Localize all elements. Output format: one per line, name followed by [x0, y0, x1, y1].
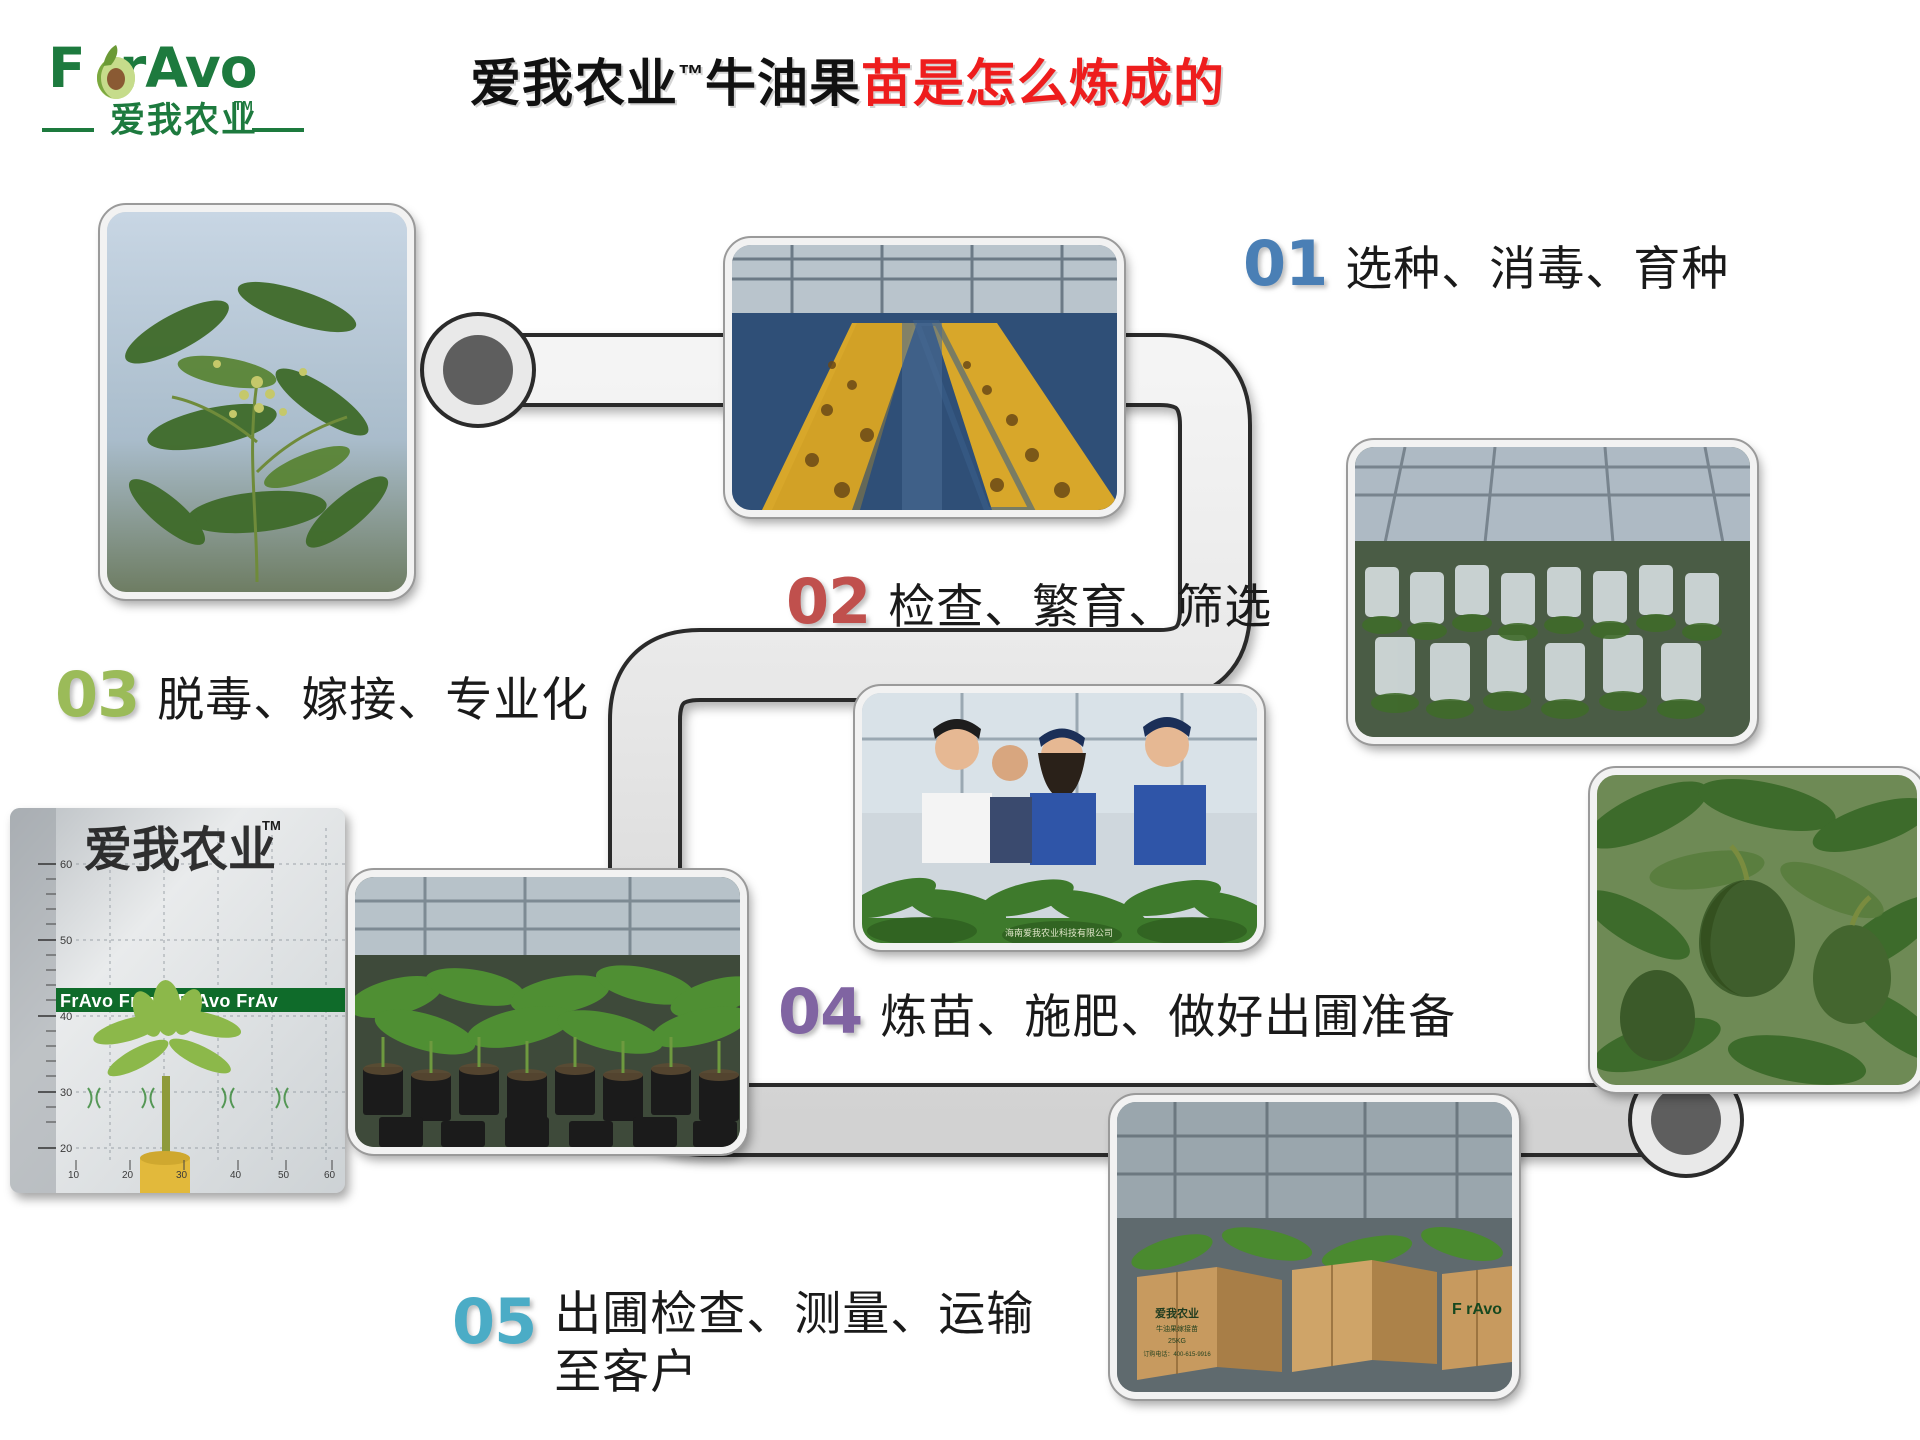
- svg-text:40: 40: [60, 1011, 72, 1023]
- brand-tm-mark: TM: [234, 98, 253, 113]
- svg-text:10: 10: [68, 1170, 80, 1181]
- photo-cartons: 爱我农业 牛油果嫁接苗 25KG 订购电话：400-615-9916 F rAv…: [1110, 1095, 1519, 1399]
- photo-potted-rows: [348, 870, 747, 1154]
- title-part-product: 牛油果: [705, 55, 861, 112]
- brand-wordmark: ForAvo: [48, 38, 257, 98]
- photo-ruler-seedling: 605040 3020 爱我农业 TM FrAvo FrAvo FrAvo Fr…: [10, 808, 345, 1193]
- cartons-of-seedlings-image: 爱我农业 牛油果嫁接苗 25KG 订购电话：400-615-9916 F rAv…: [1117, 1102, 1512, 1392]
- step-label-02: 02检查、繁育、筛选: [786, 565, 1272, 638]
- step-label-04: 04炼苗、施肥、做好出圃准备: [778, 975, 1456, 1048]
- step-number-03: 03: [55, 658, 139, 731]
- svg-text:60: 60: [60, 859, 72, 871]
- grafted-seedlings-in-bags-image: [1355, 447, 1750, 737]
- photo-grafting-bags: [1348, 440, 1757, 744]
- svg-text:30: 30: [176, 1170, 188, 1181]
- carton-label-product: 牛油果嫁接苗: [1156, 1324, 1198, 1333]
- potted-seedling-rows-image: [355, 877, 740, 1147]
- svg-text:20: 20: [122, 1170, 134, 1181]
- brand-logo: ForAvo 爱我农业 TM: [48, 38, 318, 148]
- svg-text:20: 20: [60, 1143, 72, 1155]
- seed-germination-trays-image: [732, 245, 1117, 510]
- ruler-watermark-chinese: 爱我农业: [84, 824, 276, 877]
- flow-start-dot: [443, 335, 513, 405]
- step-number-04: 04: [778, 975, 862, 1048]
- carton-label-foravo: F rAvo: [1452, 1301, 1502, 1318]
- svg-text:50: 50: [278, 1170, 290, 1181]
- title-tm: ™: [678, 59, 705, 89]
- step-number-02: 02: [786, 565, 870, 638]
- step-text-04: 炼苗、施肥、做好出圃准备: [880, 990, 1456, 1043]
- photo-caption-staff: 海南爱我农业科技有限公司: [1005, 927, 1113, 938]
- svg-text:50: 50: [60, 935, 72, 947]
- brand-chinese-row: 爱我农业 TM: [42, 100, 322, 146]
- staff-inspecting-plants-image: 海南爱我农业科技有限公司: [862, 693, 1257, 943]
- photo-avocado-flowers: [100, 205, 414, 599]
- logo-dash-left: [42, 128, 94, 132]
- flow-end-dot: [1651, 1085, 1721, 1155]
- seedling-on-measuring-board-image: 605040 3020 爱我农业 TM FrAvo FrAvo FrAvo Fr…: [10, 808, 345, 1193]
- infographic-canvas: ForAvo 爱我农业 TM 爱我农业™牛油果苗是怎么炼成的: [0, 0, 1920, 1440]
- avocado-flowering-branch-image: [107, 212, 407, 592]
- step-text-01: 选种、消毒、育种: [1345, 242, 1729, 295]
- title-part-highlight: 苗是怎么炼成的: [861, 55, 1225, 112]
- step-number-01: 01: [1243, 227, 1327, 300]
- step-label-01: 01选种、消毒、育种: [1243, 227, 1729, 300]
- avocado-icon: [95, 44, 137, 100]
- brand-wordmark-post: rAvo: [119, 36, 256, 100]
- step-text-05: 出圃检查、测量、运输 至客户: [554, 1285, 1034, 1401]
- step-text-02: 检查、繁育、筛选: [888, 580, 1272, 633]
- avocado-fruit-on-tree-image: [1597, 775, 1917, 1085]
- carton-label-phone: 订购电话：400-615-9916: [1143, 1350, 1211, 1358]
- step-label-05: 05出圃检查、测量、运输 至客户: [452, 1285, 1034, 1401]
- logo-dash-right: [252, 128, 304, 132]
- carton-label-weight: 25KG: [1168, 1338, 1186, 1345]
- brand-wordmark-pre: F: [48, 36, 82, 100]
- carton-label-brand: 爱我农业: [1155, 1306, 1199, 1320]
- flow-start-node: [422, 314, 534, 426]
- step-text-03: 脱毒、嫁接、专业化: [157, 673, 589, 726]
- photo-staff-inspecting: 海南爱我农业科技有限公司: [855, 686, 1264, 950]
- step-number-05: 05: [452, 1285, 536, 1358]
- svg-text:60: 60: [324, 1170, 336, 1181]
- page-title: 爱我农业™牛油果苗是怎么炼成的: [470, 42, 1225, 116]
- step-label-03: 03脱毒、嫁接、专业化: [55, 658, 589, 731]
- svg-text:30: 30: [60, 1087, 72, 1099]
- svg-text:40: 40: [230, 1170, 242, 1181]
- photo-seed-trays: [725, 238, 1124, 517]
- ruler-watermark-tm: TM: [262, 818, 281, 833]
- title-part-brand: 爱我农业: [470, 55, 678, 112]
- photo-ripe-fruit: [1590, 768, 1920, 1092]
